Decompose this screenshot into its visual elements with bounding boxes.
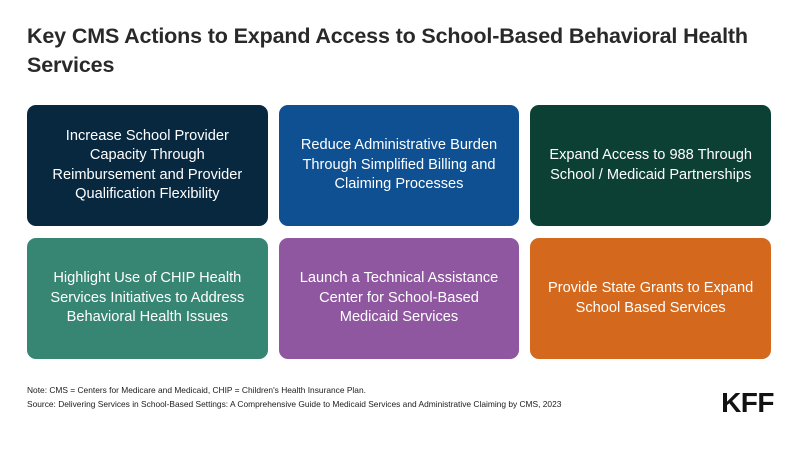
action-card-provide-state-grants[interactable]: Provide State Grants to Expand School Ba… <box>530 238 771 359</box>
kff-logo: KFF <box>721 389 774 417</box>
action-card-reduce-administrative-burden[interactable]: Reduce Administrative Burden Through Sim… <box>279 105 520 226</box>
title-block: Key CMS Actions to Expand Access to Scho… <box>27 22 757 79</box>
action-card-grid: Increase School Provider Capacity Throug… <box>27 105 771 359</box>
action-card-label: Expand Access to 988 Through School / Me… <box>542 146 759 185</box>
page-title: Key CMS Actions to Expand Access to Scho… <box>27 22 757 79</box>
action-card-increase-school-provider-capacity[interactable]: Increase School Provider Capacity Throug… <box>27 105 268 226</box>
action-card-label: Provide State Grants to Expand School Ba… <box>542 279 759 318</box>
action-card-expand-access-to-988[interactable]: Expand Access to 988 Through School / Me… <box>530 105 771 226</box>
footer-note: Note: CMS = Centers for Medicare and Med… <box>27 384 687 398</box>
action-card-highlight-chip-health-services[interactable]: Highlight Use of CHIP Health Services In… <box>27 238 268 359</box>
action-card-label: Highlight Use of CHIP Health Services In… <box>39 269 256 327</box>
footer-source: Source: Delivering Services in School-Ba… <box>27 398 687 412</box>
action-card-label: Launch a Technical Assistance Center for… <box>291 269 508 327</box>
infographic-page: Key CMS Actions to Expand Access to Scho… <box>0 0 800 450</box>
action-card-launch-technical-assistance-center[interactable]: Launch a Technical Assistance Center for… <box>279 238 520 359</box>
action-card-label: Reduce Administrative Burden Through Sim… <box>291 136 508 194</box>
action-card-label: Increase School Provider Capacity Throug… <box>39 127 256 205</box>
footer: Note: CMS = Centers for Medicare and Med… <box>27 384 687 411</box>
